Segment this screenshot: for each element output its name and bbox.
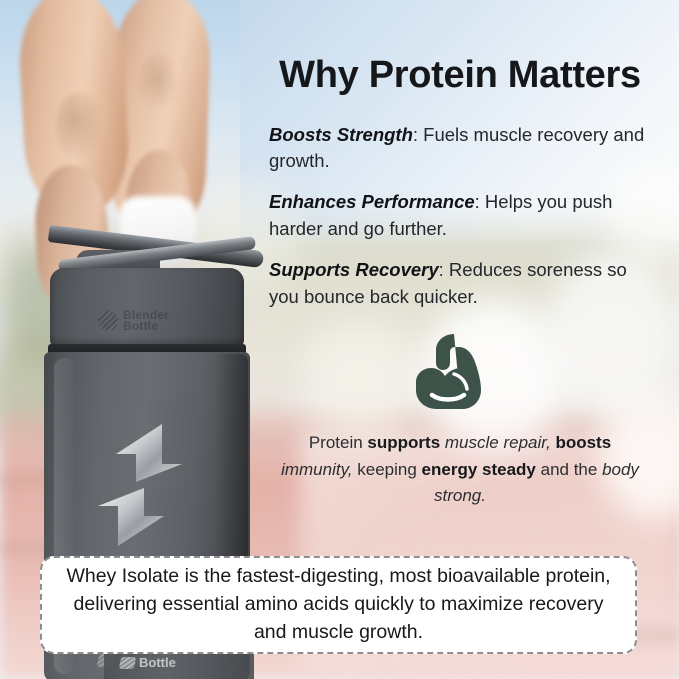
note-bold-1: supports — [367, 433, 440, 452]
bottle-lid: Blender Bottle — [50, 268, 244, 348]
flexed-bicep-icon — [414, 332, 506, 412]
page-title: Why Protein Matters — [255, 52, 665, 100]
note-part-2: keeping — [353, 460, 422, 479]
brand-line-2: Bottle — [123, 321, 169, 332]
note-italic-2: immunity, — [281, 460, 352, 479]
note-bold-3: energy steady — [422, 460, 536, 479]
callout-text: Whey Isolate is the fastest-digesting, m… — [60, 563, 617, 646]
note-part-1: Protein — [309, 433, 368, 452]
bottle-peek-logo: Bottle — [120, 655, 176, 670]
blenderbottle-logo: Blender Bottle — [98, 304, 218, 338]
note-part-3: and the — [536, 460, 602, 479]
benefits-list: Boosts Strength: Fuels muscle recovery a… — [255, 122, 665, 311]
brand-peek-word: Bottle — [139, 655, 176, 670]
double-arrow-emblem-icon — [86, 420, 194, 550]
benefit-lead: Enhances Performance — [269, 191, 475, 212]
infographic-canvas: Blender Bottle — [0, 0, 679, 679]
note-italic-1: muscle repair, — [440, 433, 551, 452]
benefit-lead: Boosts Strength — [269, 124, 413, 145]
blenderbottle-mark-icon — [119, 657, 137, 669]
knee-shading — [56, 92, 102, 162]
highlight-callout-card: Whey Isolate is the fastest-digesting, m… — [40, 556, 637, 654]
protein-summary: Protein supports muscle repair, boosts i… — [255, 430, 665, 509]
benefit-item: Enhances Performance: Helps you push har… — [269, 189, 661, 242]
knee-shading — [138, 52, 180, 112]
benefit-item: Supports Recovery: Reduces soreness so y… — [269, 257, 661, 310]
note-bold-2: boosts — [555, 433, 611, 452]
bicep-icon-container — [255, 332, 665, 412]
blenderbottle-mark-icon — [98, 311, 118, 331]
benefit-lead: Supports Recovery — [269, 259, 439, 280]
content-column: Why Protein Matters Boosts Strength: Fue… — [255, 52, 665, 509]
benefit-item: Boosts Strength: Fuels muscle recovery a… — [269, 122, 661, 175]
